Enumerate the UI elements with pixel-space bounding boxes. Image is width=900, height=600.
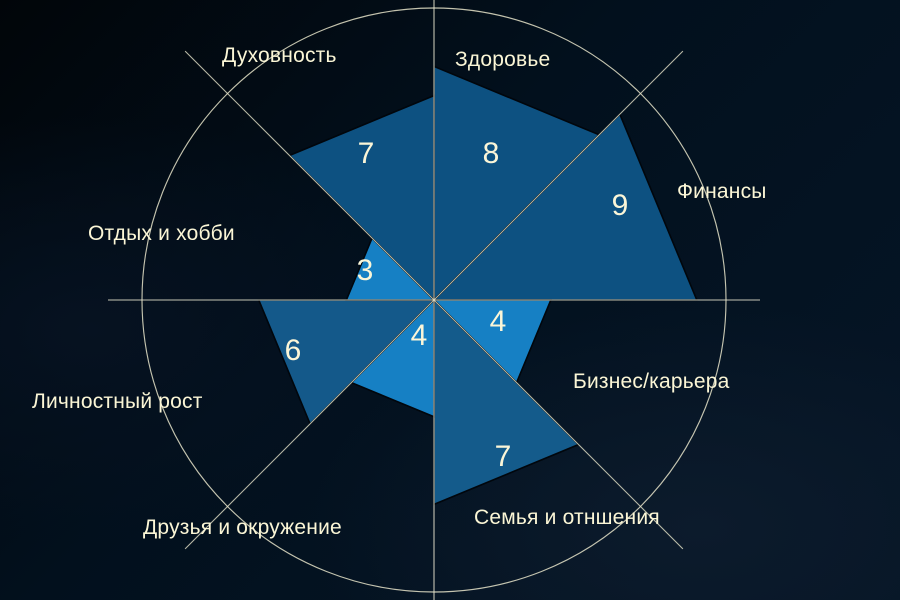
value-label-health: 8	[483, 137, 500, 170]
wheel-of-life-canvas: 89474637 ЗдоровьеФинансыБизнес/карьераСе…	[0, 0, 900, 600]
value-label-business-career: 4	[490, 305, 507, 338]
value-label-personal-growth: 6	[285, 334, 302, 367]
sector-label-health[interactable]: Здоровье	[455, 48, 550, 71]
value-label-family-relations: 7	[495, 440, 512, 473]
wedges-group	[259, 66, 697, 504]
value-label-spirituality: 7	[358, 137, 375, 170]
sector-label-spirituality[interactable]: Духовность	[222, 44, 337, 67]
sector-label-finance[interactable]: Финансы	[677, 180, 767, 203]
sector-label-family-relations[interactable]: Семья и отншения	[474, 506, 660, 529]
guides-group	[108, 0, 760, 600]
wheel-of-life-chart: 89474637	[0, 0, 900, 600]
sector-label-business-career[interactable]: Бизнес/карьера	[573, 370, 730, 393]
value-label-friends-environment: 4	[411, 319, 428, 352]
sector-label-rest-hobby[interactable]: Отдых и хобби	[88, 222, 235, 245]
sector-label-friends-environment[interactable]: Друзья и окружение	[143, 516, 342, 539]
sector-label-personal-growth[interactable]: Личностный рост	[32, 390, 203, 413]
value-label-rest-hobby: 3	[357, 254, 374, 287]
value-label-finance: 9	[612, 189, 629, 222]
